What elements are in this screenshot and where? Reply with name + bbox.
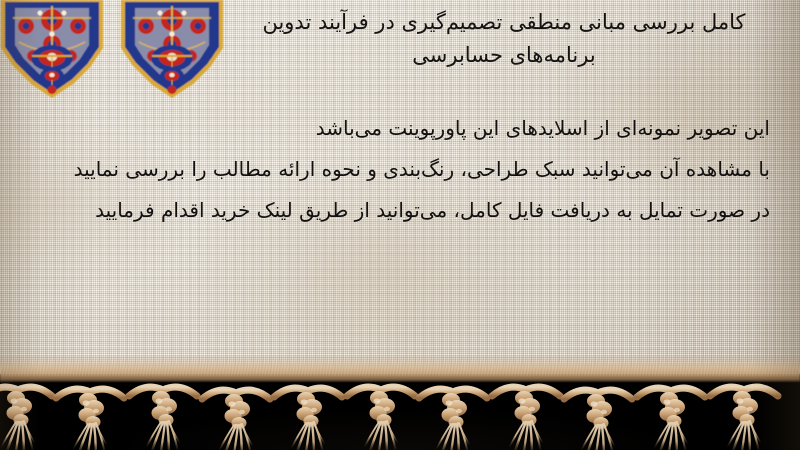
carpet-fringe-zone — [0, 352, 800, 450]
slide-title-line-1: کامل بررسی مبانی منطقی تصمیم‌گیری در فرآ… — [215, 6, 793, 39]
slide-body-line-3: در صورت تمایل به دریافت فایل کامل، می‌تو… — [20, 190, 782, 231]
slide-body-text: این تصویر نمونه‌ای از اسلایدهای این پاور… — [20, 108, 782, 231]
fringe-tassel-row — [0, 352, 800, 450]
presentation-slide: کامل بررسی مبانی منطقی تصمیم‌گیری در فرآ… — [0, 0, 800, 450]
slide-title: کامل بررسی مبانی منطقی تصمیم‌گیری در فرآ… — [215, 6, 793, 72]
slide-body-line-2: با مشاهده آن می‌توانید سبک طراحی، رنگ‌بن… — [20, 149, 782, 190]
slide-body-line-1: این تصویر نمونه‌ای از اسلایدهای این پاور… — [20, 108, 782, 149]
slide-title-line-2: برنامه‌های حسابرسی — [215, 39, 793, 72]
